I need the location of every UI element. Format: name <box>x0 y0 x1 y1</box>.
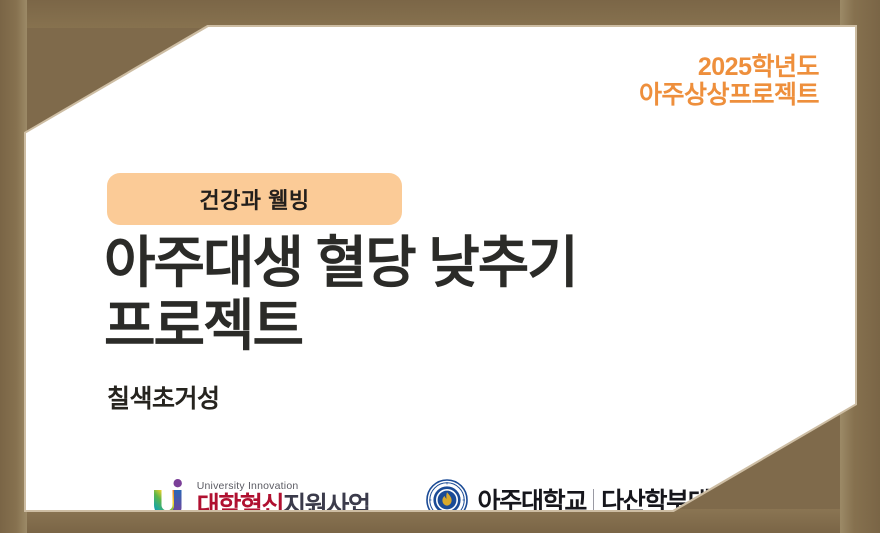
program-header-year: 2025학년도 <box>639 53 819 81</box>
poster-canvas: 2025학년도 아주상상프로젝트 건강과 웰빙 아주대생 혈당 낮추기 프로젝트… <box>0 0 880 533</box>
page-title: 아주대생 혈당 낮추기 프로젝트 <box>104 232 804 357</box>
category-badge-label: 건강과 웰빙 <box>199 183 309 215</box>
page-title-line-2: 프로젝트 <box>104 295 804 358</box>
page-title-line-1: 아주대생 혈당 낮추기 <box>104 232 804 295</box>
frame-band-bottom <box>0 509 880 533</box>
category-badge: 건강과 웰빙 <box>107 173 402 225</box>
program-header: 2025학년도 아주상상프로젝트 <box>639 53 819 109</box>
team-name: 칠색초거성 <box>107 379 220 415</box>
university-innovation-english: University Innovation <box>197 481 370 492</box>
content-card: 2025학년도 아주상상프로젝트 건강과 웰빙 아주대생 혈당 낮추기 프로젝트… <box>26 27 855 510</box>
program-header-name: 아주상상프로젝트 <box>639 81 819 109</box>
frame-band-left <box>0 0 27 533</box>
ajou-logo-divider <box>593 489 594 511</box>
card-inner: 2025학년도 아주상상프로젝트 건강과 웰빙 아주대생 혈당 낮추기 프로젝트… <box>26 27 855 510</box>
frame-band-top <box>0 0 880 28</box>
